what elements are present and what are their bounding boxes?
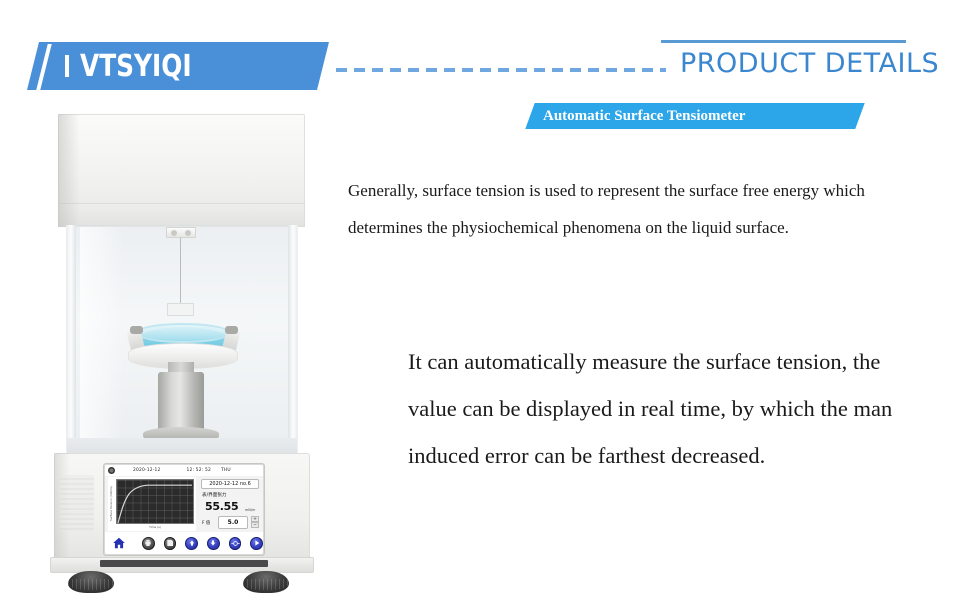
status-weekday: THU [221,468,231,473]
header-dashed-divider [336,68,666,72]
product-detail-page: VTSYIQI PRODUCT DETAILS Automatic Surfac… [0,0,970,600]
tension-value: 55.55 [205,500,238,513]
product-name: Automatic Surface Tensiometer [543,104,873,128]
tension-unit: mN/m [245,508,255,512]
product-photo: 2020-12-12 12: 52: 52 THU Surface Tensio… [40,105,340,585]
screen-content: Surface Tension (mN/m) Time (s) 2020-12-… [105,476,263,532]
f-value-decrement-button[interactable]: − [251,522,259,528]
chart-curve [116,479,194,524]
feature-paragraph: It can automatically measure the surface… [408,338,918,479]
f-value-label: F 值 [202,520,210,526]
zero-target-icon[interactable] [229,537,242,550]
status-date: 2020-12-12 [133,468,161,473]
hanger-screw-right-icon [185,230,191,236]
tension-chart: Surface Tension (mN/m) Time (s) [108,477,196,531]
suspension-wire [180,238,181,306]
adjustable-foot-left-ridges [68,579,114,590]
sample-id-field[interactable]: 2020-12-12 no.6 [201,479,259,489]
intro-paragraph: Generally, surface tension is used to re… [348,172,908,246]
print-icon[interactable] [142,537,155,550]
chamber-left-post [66,225,76,455]
sample-dish-rim [135,323,231,343]
measurement-label: 表/界面张力 [202,492,227,498]
hanger-screw-left-icon [171,230,177,236]
chart-x-axis-label: Time (s) [116,525,194,529]
save-icon[interactable] [164,537,177,550]
brand-logo: VTSYIQI [33,42,333,90]
lift-stage-column [158,372,204,432]
home-icon[interactable] [112,536,126,550]
chamber-right-post [288,225,298,455]
status-time: 12: 52: 52 [187,468,212,473]
logo-tick-icon [65,55,69,77]
measurement-readout-panel: 2020-12-12 no.6 表/界面张力 55.55 mN/m F 值 5.… [198,476,263,532]
dish-clamp-left-cap [130,326,143,334]
instrument-top-housing-shading [58,114,80,227]
chart-y-axis-label: Surface Tension (mN/m) [109,482,116,526]
dish-clamp-right-cap [225,326,238,334]
screen-status-bar: 2020-12-12 12: 52: 52 THU [105,465,263,476]
console-vent-grille [60,475,94,531]
settings-gear-icon[interactable] [108,467,115,474]
touchscreen-display[interactable]: 2020-12-12 12: 52: 52 THU Surface Tensio… [105,465,263,554]
page-title: PRODUCT DETAILS [680,48,939,79]
move-down-icon[interactable] [207,537,220,550]
brand-name: VTSYIQI [80,49,192,84]
start-measurement-icon[interactable] [250,537,263,550]
chamber-glass-reflection [80,227,124,453]
base-front-slot [100,560,268,567]
screen-toolbar [105,532,263,554]
f-value-input[interactable]: 5.0 [218,516,248,529]
adjustable-foot-right-ridges [243,579,289,590]
platinum-ring-probe [167,303,194,316]
section-title-rule [661,40,906,43]
move-up-icon[interactable] [185,537,198,550]
instrument-top-housing-face [58,203,305,227]
